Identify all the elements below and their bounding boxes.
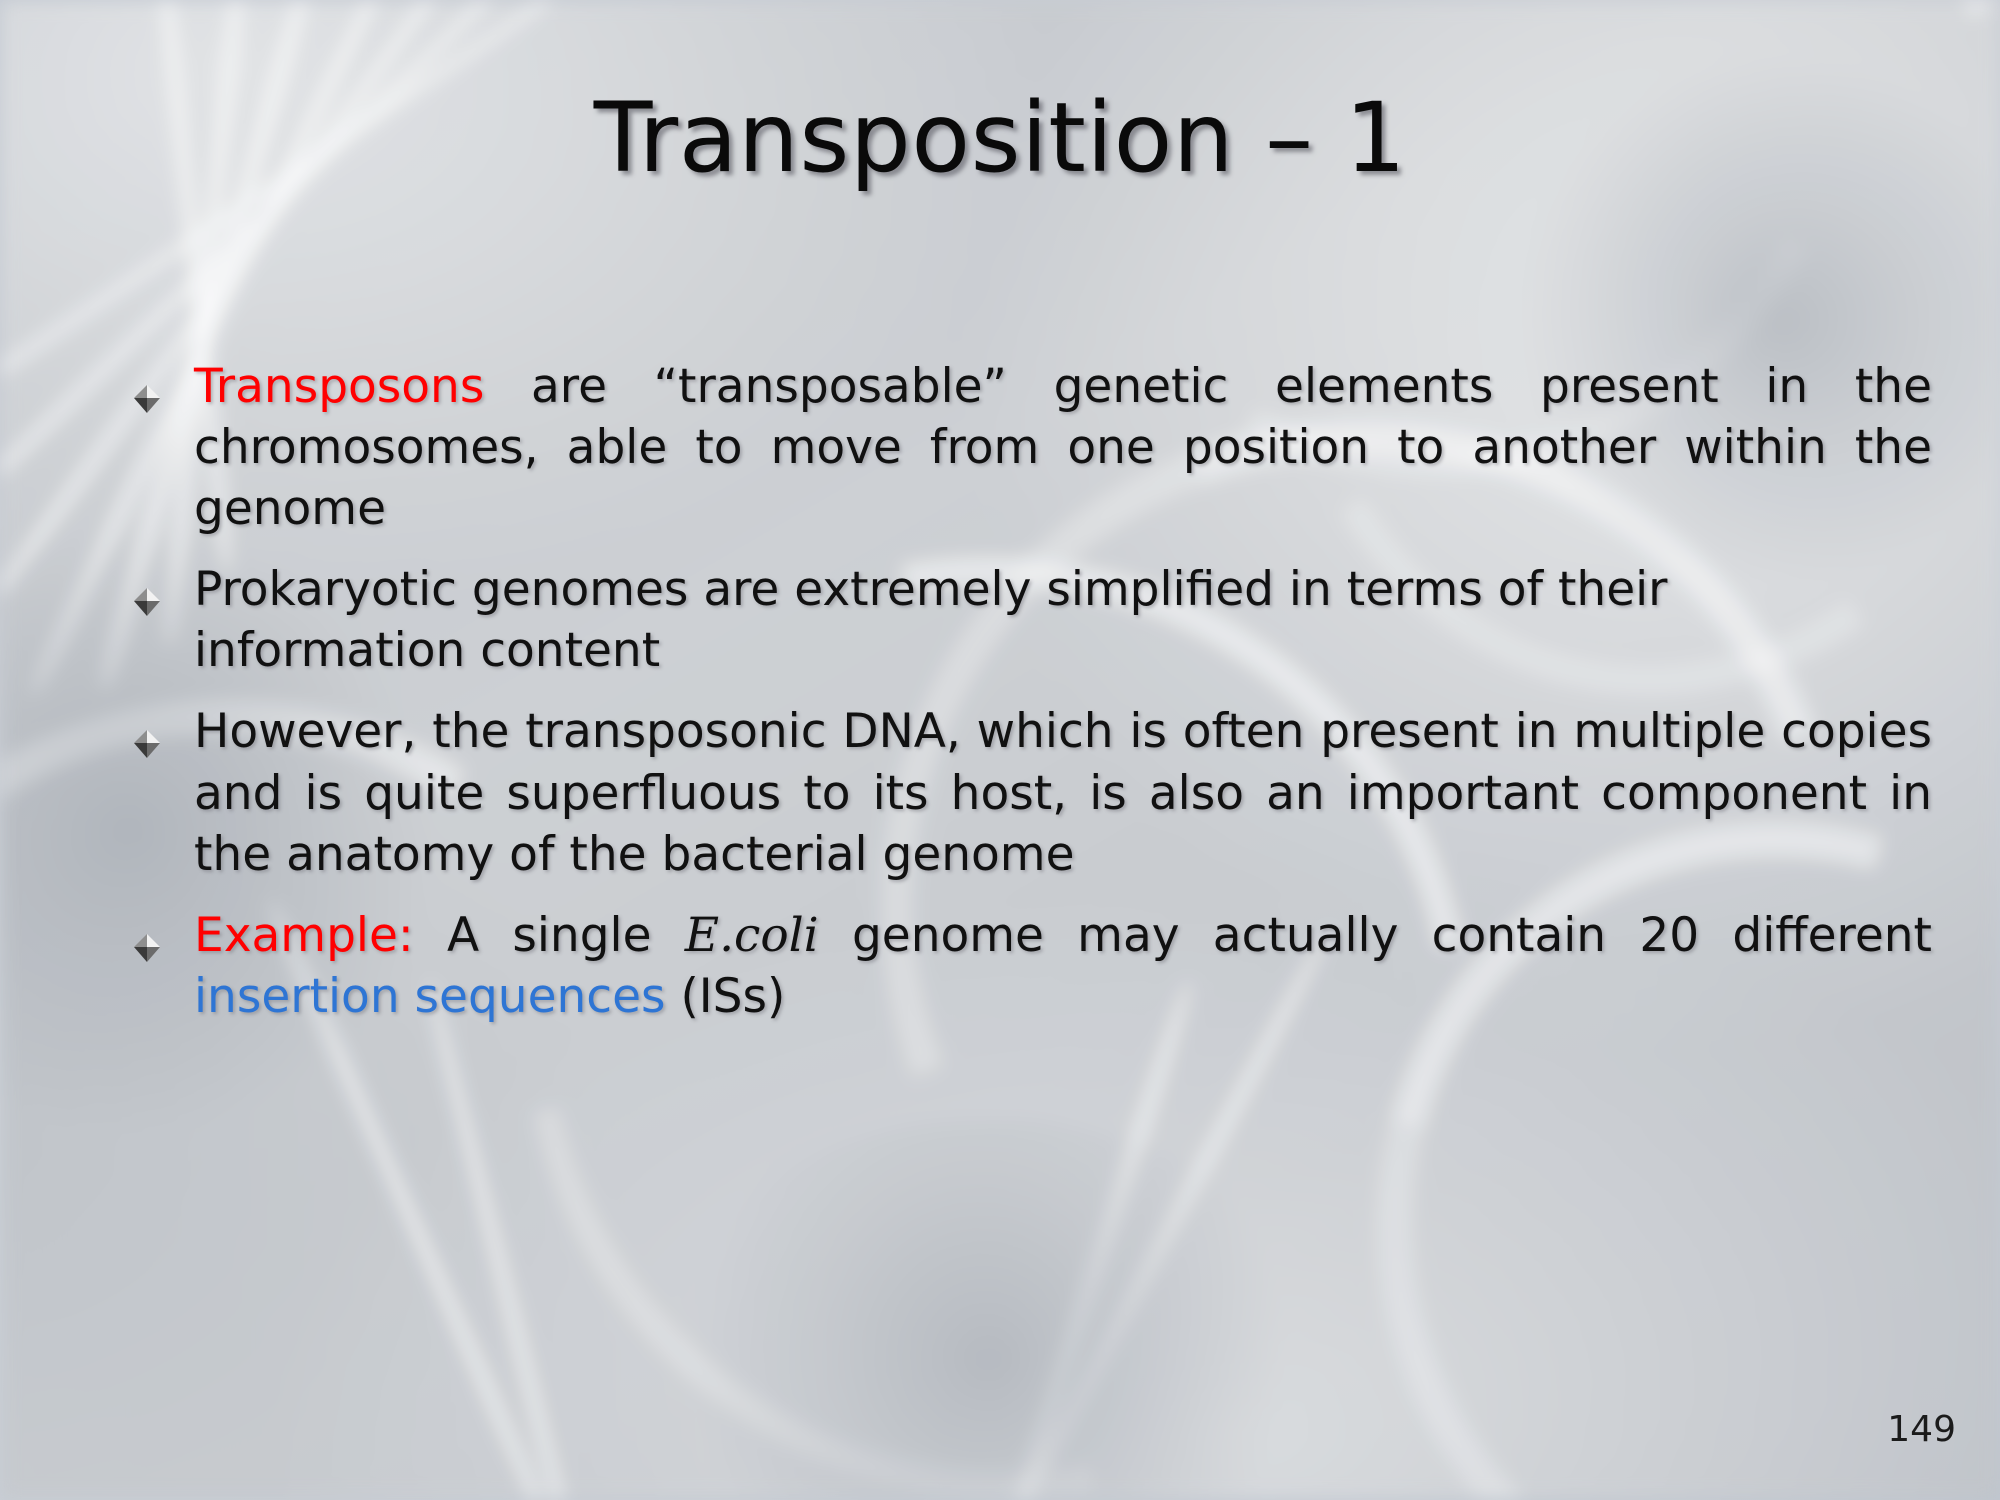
bullet-run-plain: (ISs) bbox=[666, 969, 786, 1024]
bullet-text: Prokaryotic genomes are extremely simpli… bbox=[194, 562, 1668, 678]
bullet-run-highlight: Example: bbox=[194, 908, 414, 963]
diamond-arrow-bullet-icon bbox=[130, 715, 164, 749]
slide-body: Transposons are “transposable” genetic e… bbox=[118, 356, 1932, 1047]
bullet-text: However, the transposonic DNA, which is … bbox=[194, 704, 1932, 881]
slide-page-number: 149 bbox=[1887, 1409, 1956, 1450]
slide-title: Transposition – 1 bbox=[0, 88, 2000, 189]
bullet-item-prokaryotic-genomes: Prokaryotic genomes are extremely simpli… bbox=[118, 559, 1932, 681]
bullet-run-plain: Prokaryotic genomes are extremely simpli… bbox=[194, 562, 1668, 678]
presentation-slide: Transposition – 1 Transposons are “trans… bbox=[0, 0, 2000, 1500]
bullet-run-plain: genome may actually contain 20 different bbox=[819, 908, 1932, 963]
bullet-run-term: insertion sequences bbox=[194, 969, 666, 1024]
bullet-text: Example: A single E.coli genome may actu… bbox=[194, 908, 1932, 1024]
bullet-text: Transposons are “transposable” genetic e… bbox=[194, 359, 1932, 536]
bullet-run-species-name: E.coli bbox=[685, 908, 819, 963]
bullet-run-plain: A single bbox=[414, 908, 685, 963]
diamond-arrow-bullet-icon bbox=[130, 919, 164, 953]
diamond-arrow-bullet-icon bbox=[130, 573, 164, 607]
bullet-item-transposonic-dna: However, the transposonic DNA, which is … bbox=[118, 701, 1932, 884]
diamond-arrow-bullet-icon bbox=[130, 370, 164, 404]
bullet-item-transposons: Transposons are “transposable” genetic e… bbox=[118, 356, 1932, 539]
bullet-run-plain: However, the transposonic DNA, which is … bbox=[194, 704, 1932, 881]
bullet-item-example-ecoli: Example: A single E.coli genome may actu… bbox=[118, 905, 1932, 1027]
bullet-run-highlight: Transposons bbox=[194, 359, 484, 414]
